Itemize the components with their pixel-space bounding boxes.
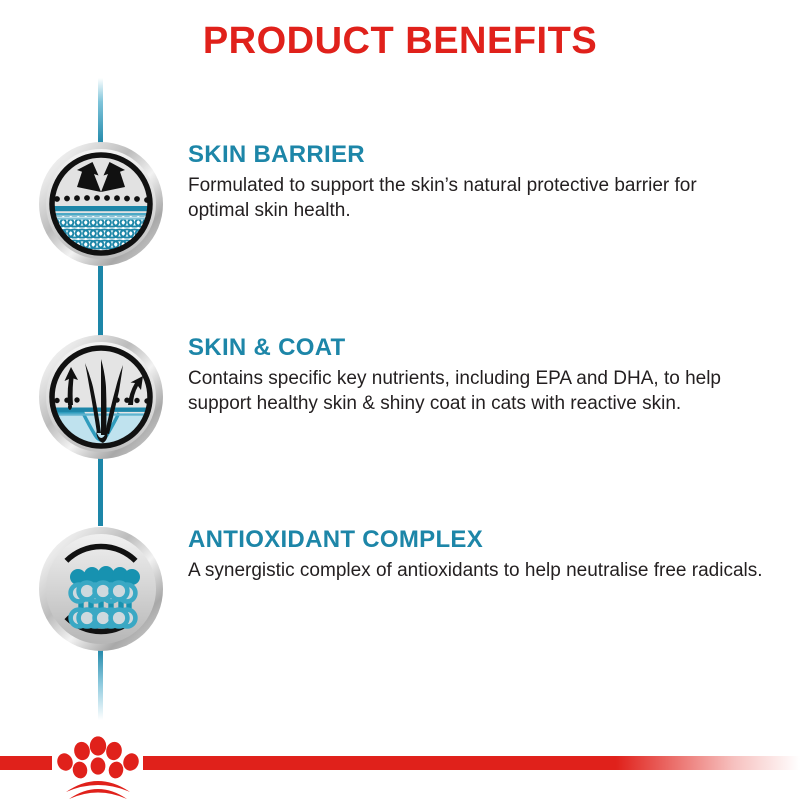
benefit-heading: SKIN BARRIER <box>188 142 788 167</box>
benefit-text-skin-and-coat: SKIN & COAT Contains specific key nutrie… <box>188 335 788 416</box>
page-title: PRODUCT BENEFITS <box>0 20 800 63</box>
royal-canin-crown-logo <box>52 726 144 800</box>
benefit-heading: SKIN & COAT <box>188 335 788 360</box>
benefit-body: Formulated to support the skin’s natural… <box>188 173 763 223</box>
benefit-text-antioxidant-complex: ANTIOXIDANT COMPLEX A synergistic comple… <box>188 527 788 583</box>
connector-line-2-to-3 <box>98 458 103 526</box>
antioxidant-complex-icon <box>37 525 165 653</box>
connector-line-1-to-2 <box>98 266 103 336</box>
benefit-body: Contains specific key nutrients, includi… <box>188 366 763 416</box>
skin-and-coat-icon <box>37 333 165 461</box>
brand-bar-right-segment <box>143 756 800 770</box>
connector-line-top <box>98 78 103 146</box>
benefit-text-skin-barrier: SKIN BARRIER Formulated to support the s… <box>188 142 788 223</box>
benefit-heading: ANTIOXIDANT COMPLEX <box>188 527 788 552</box>
skin-barrier-icon <box>37 140 165 268</box>
connector-line-bottom <box>98 648 103 720</box>
benefit-body: A synergistic complex of antioxidants to… <box>188 558 763 583</box>
brand-bar-left-segment <box>0 756 52 770</box>
